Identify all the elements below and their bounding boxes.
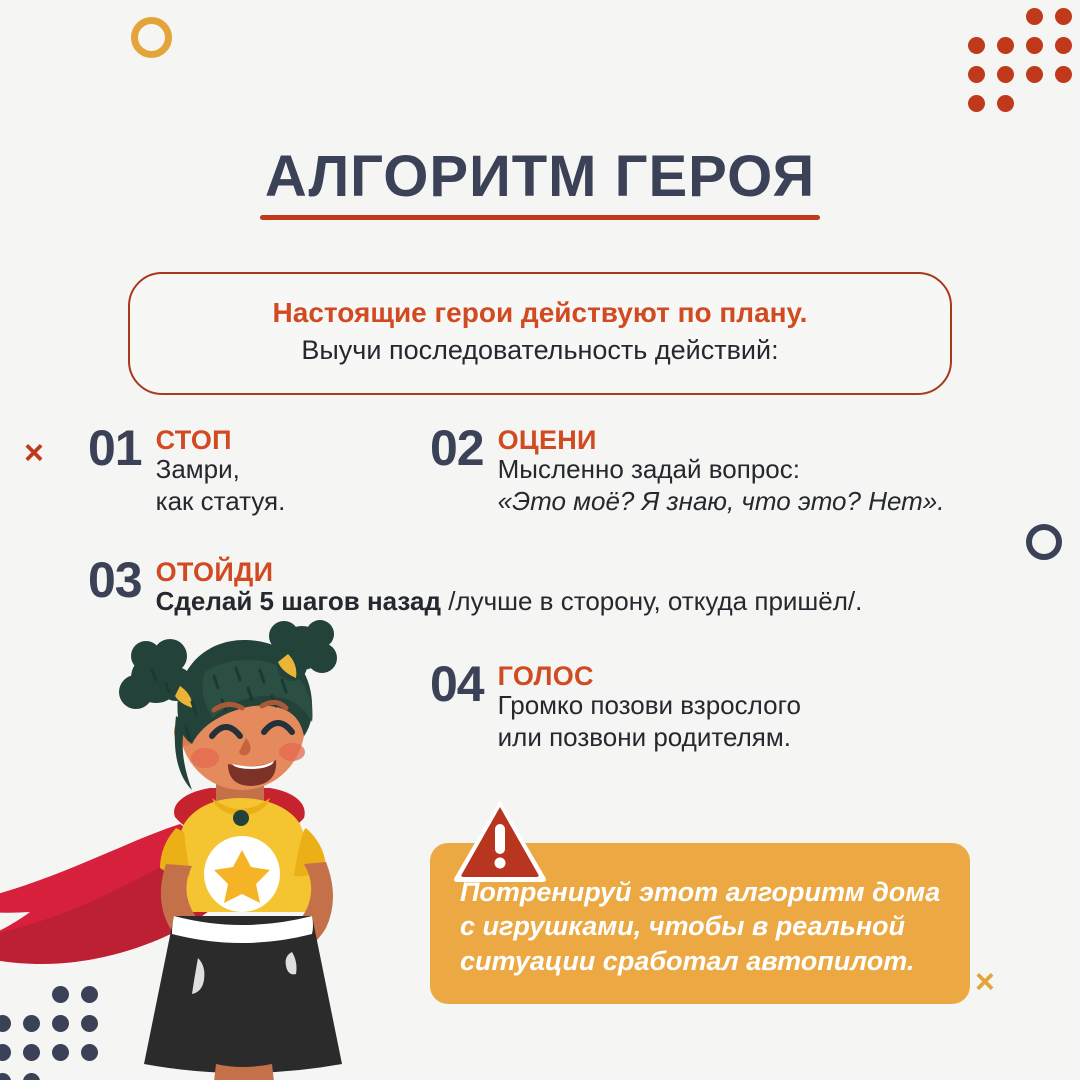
step-title: ОТОЙДИ (156, 558, 863, 586)
circle-outline-gold-icon (131, 17, 172, 58)
title-block: АЛГОРИТМ ГЕРОЯ (0, 148, 1080, 220)
x-mark-gold-icon: × (975, 965, 995, 999)
step-body: СТОП Замри, как статуя. (156, 424, 286, 518)
step-line: как статуя. (156, 486, 286, 518)
step-body: ОТОЙДИ Сделай 5 шагов назад /лучше в сто… (156, 556, 863, 618)
step-line: Громко позови взрослого (498, 690, 801, 722)
title-underline (260, 215, 820, 220)
step-item-01: 01 СТОП Замри, как статуя. (88, 424, 285, 518)
tagline-secondary: Выучи последовательность действий: (154, 333, 926, 368)
step-item-02: 02 ОЦЕНИ Мысленно задай вопрос: «Это моё… (430, 424, 945, 518)
step-line-note: /лучше в сторону, откуда пришёл/. (441, 586, 862, 616)
tagline-box: Настоящие герои действуют по плану. Выуч… (128, 272, 952, 395)
circle-outline-navy-icon (1026, 524, 1062, 560)
step-number: 01 (88, 424, 142, 473)
poster-canvas: × × АЛГОРИТМ ГЕРОЯ Настоящие герои дейст… (0, 0, 1080, 1080)
step-line-quote: «Это моё? Я знаю, что это? Нет». (498, 486, 945, 518)
step-line: или позвони родителям. (498, 722, 801, 754)
step-title: СТОП (156, 426, 286, 454)
dot-grid-red-icon (968, 8, 1066, 106)
step-number: 03 (88, 556, 142, 605)
page-title: АЛГОРИТМ ГЕРОЯ (265, 148, 815, 220)
step-body: ОЦЕНИ Мысленно задай вопрос: «Это моё? Я… (498, 424, 945, 518)
step-title: ГОЛОС (498, 662, 801, 690)
tagline-primary: Настоящие герои действуют по плану. (154, 295, 926, 331)
step-line: Замри, (156, 454, 286, 486)
step-number: 02 (430, 424, 484, 473)
step-item-04: 04 ГОЛОС Громко позови взрослого или поз… (430, 660, 801, 754)
step-body: ГОЛОС Громко позови взрослого или позвон… (498, 660, 801, 754)
superhero-girl-illustration (0, 612, 470, 1080)
tip-text: Потренируй этот алгоритм дома с игрушкам… (460, 875, 942, 978)
step-title: ОЦЕНИ (498, 426, 945, 454)
x-mark-red-icon: × (24, 436, 44, 470)
step-item-03: 03 ОТОЙДИ Сделай 5 шагов назад /лучше в … (88, 556, 862, 618)
step-line: Мысленно задай вопрос: (498, 454, 945, 486)
